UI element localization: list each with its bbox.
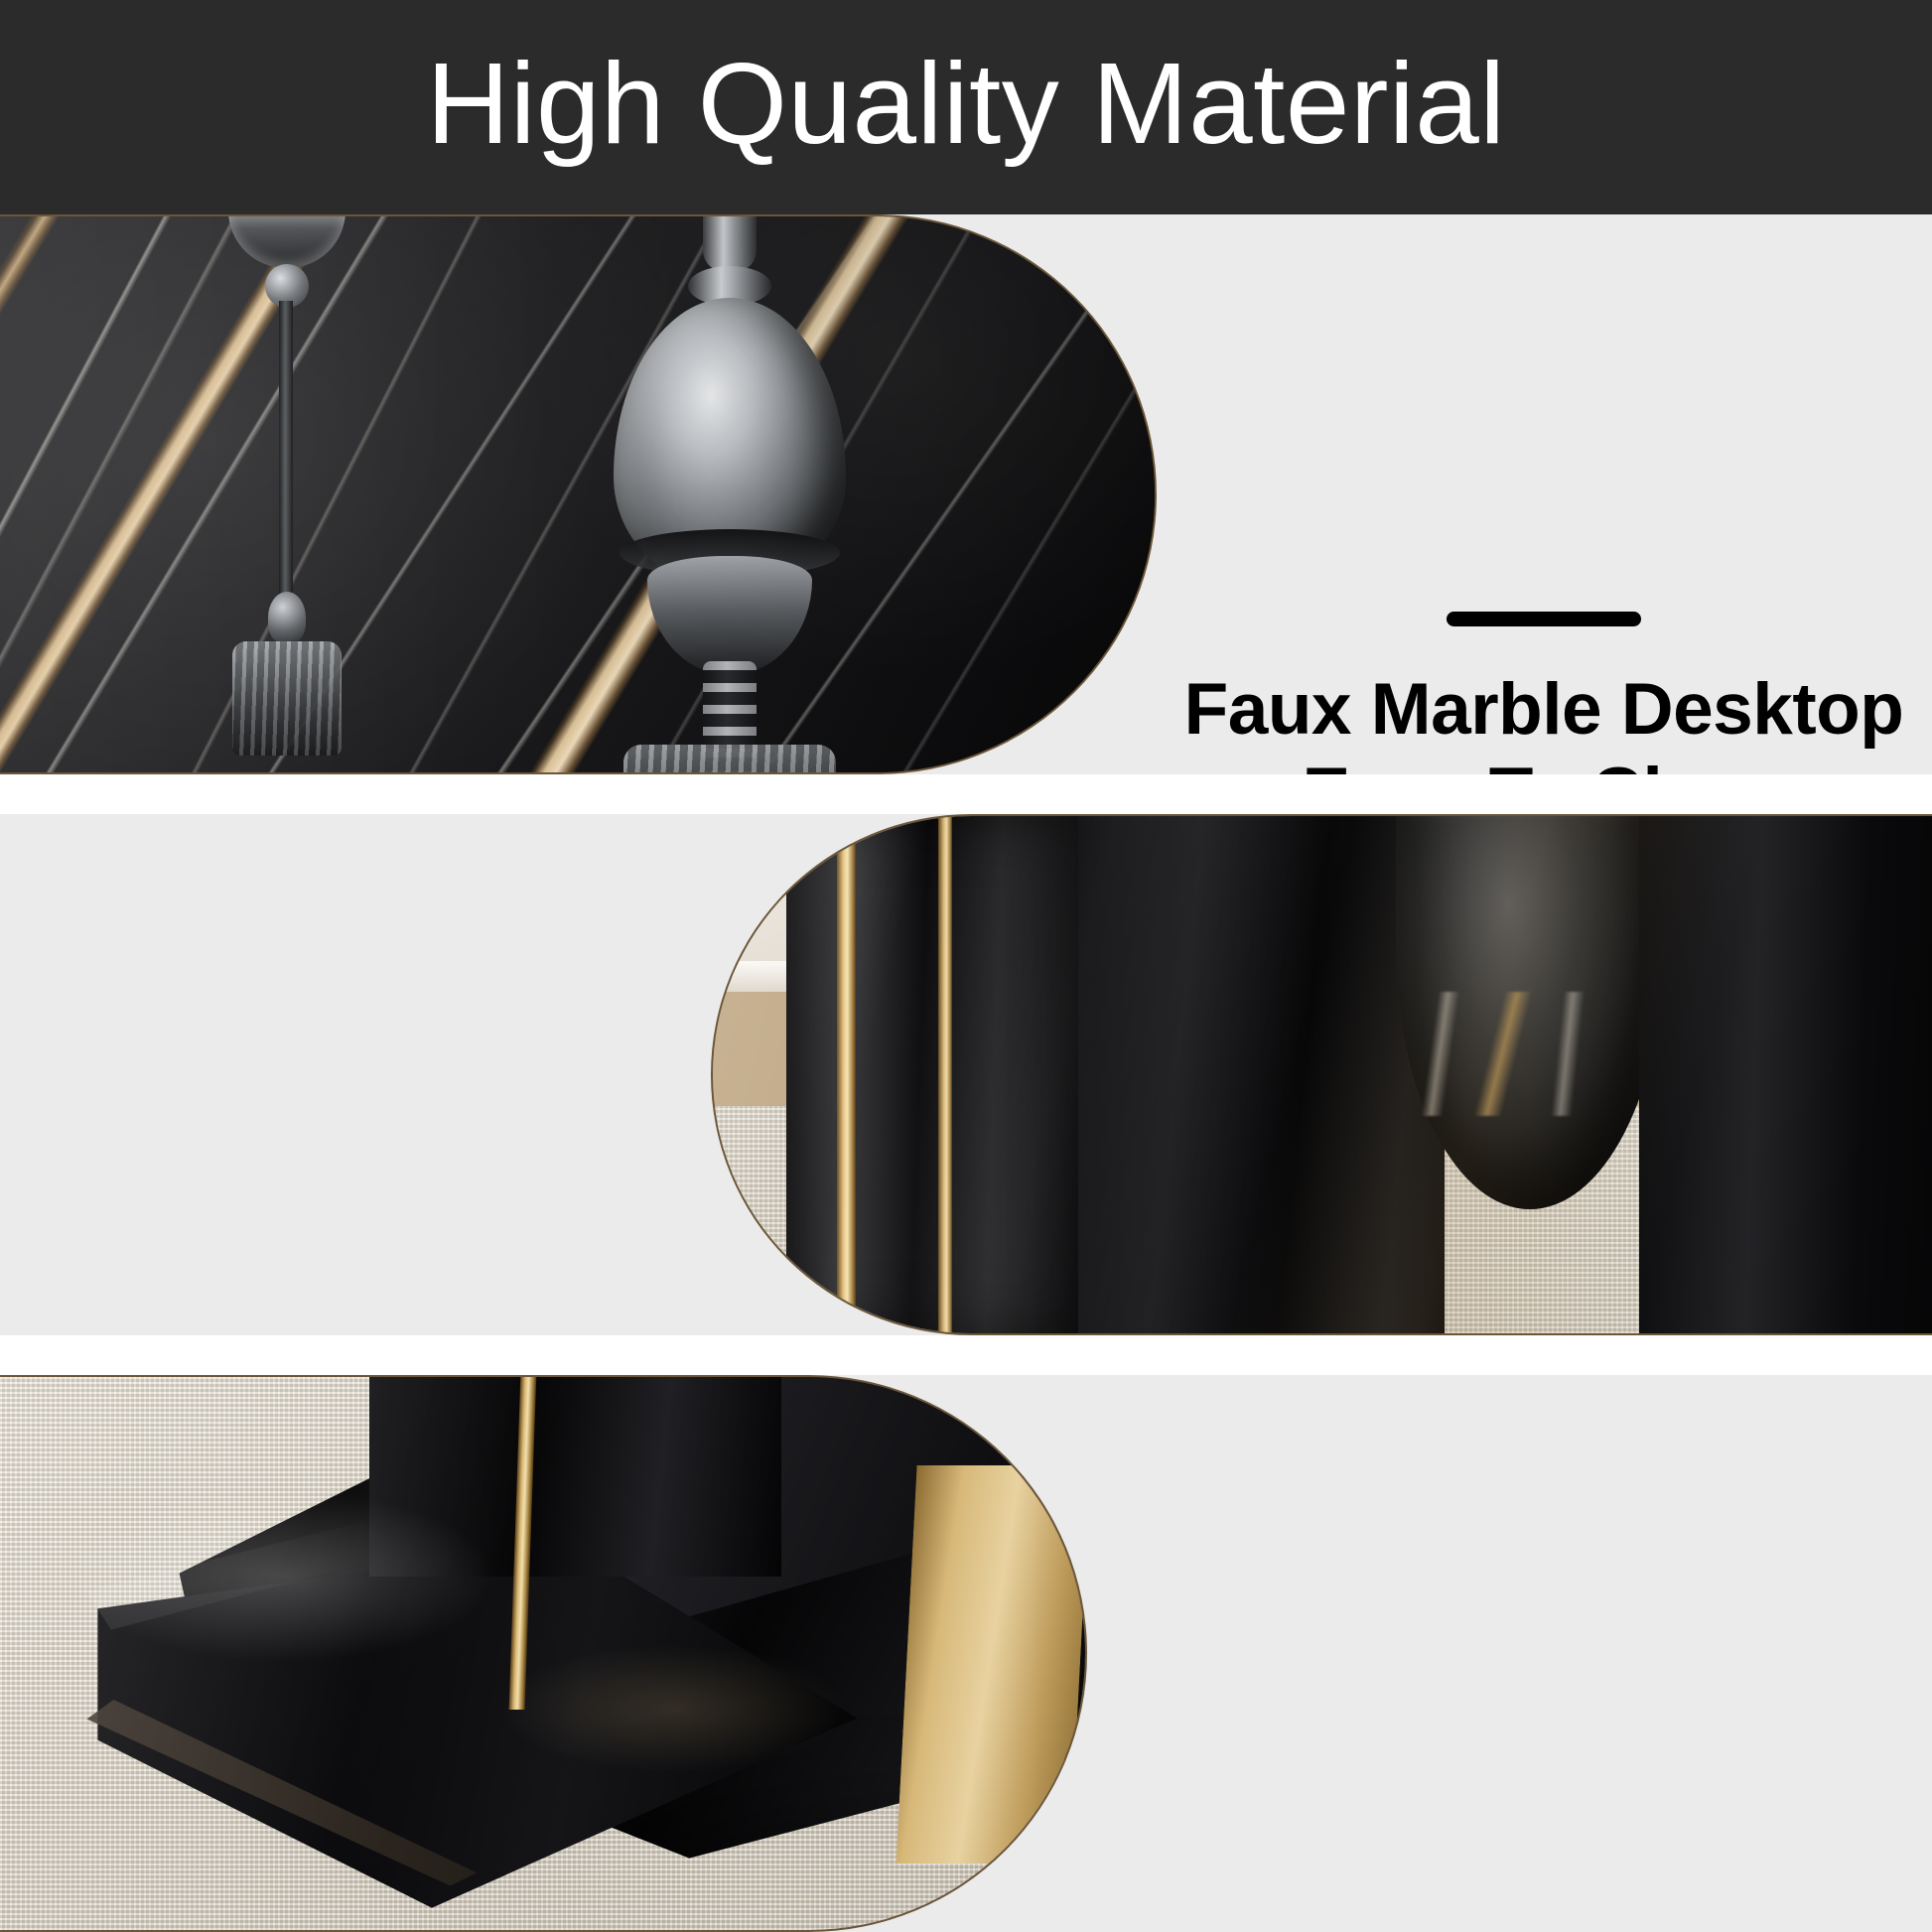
feature-panel-mdf-legs: MDF Legs Stable Support	[0, 814, 1932, 1335]
feature-panel-faux-marble-desktop: Faux Marble Desktop Easy To Clean	[0, 214, 1932, 774]
accent-bar-icon	[1447, 612, 1641, 626]
panel-separator	[0, 774, 1932, 814]
feature-headline-line1: Faux Marble Desktop	[1184, 668, 1904, 753]
photo-large-size-base	[0, 1375, 1087, 1932]
page-title: High Quality Material	[426, 46, 1505, 161]
infographic-page: High Quality Material	[0, 0, 1932, 1932]
marble-gloss-reflection	[0, 216, 1155, 772]
base-gloss-reflection	[0, 1377, 1085, 1930]
feature-panel-large-size-base: Large Size Base Strong Load Bearing	[0, 1375, 1932, 1932]
leg-gloss-reflection	[713, 816, 1932, 1333]
panel-separator	[0, 1335, 1932, 1375]
header-banner: High Quality Material	[0, 0, 1932, 214]
photo-faux-marble-desktop	[0, 214, 1157, 774]
photo-mdf-legs	[711, 814, 1932, 1335]
